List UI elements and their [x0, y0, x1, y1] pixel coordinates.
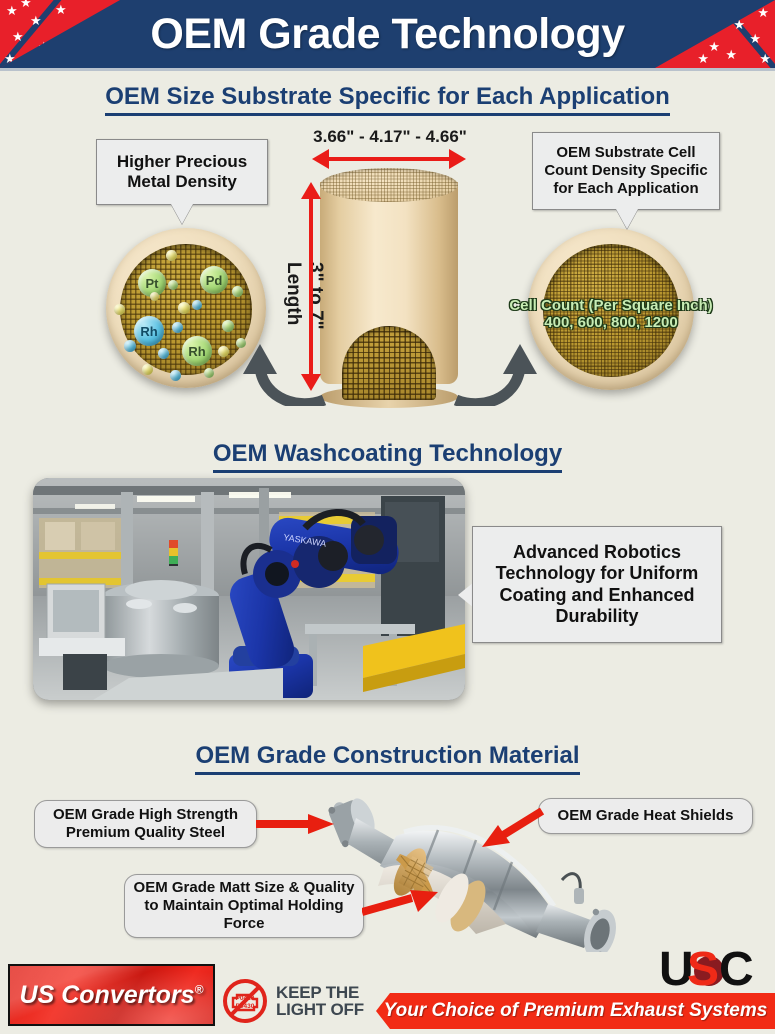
pellet-pd: Pd [200, 266, 228, 294]
curved-arrow-right [450, 330, 540, 406]
cell-count-title: Cell Count (Per Square Inch) [496, 298, 726, 315]
substrate-cylinder [320, 168, 458, 398]
logo-letter-c: C [719, 945, 754, 993]
cell-count-values: 400, 600, 800, 1200 [496, 315, 726, 332]
pellet-dot [222, 320, 234, 332]
usc-logo: U S C [657, 945, 767, 993]
pellet-dot [150, 292, 159, 301]
callout-heat-shields: OEM Grade Heat Shields [538, 798, 753, 834]
callout-text: OEM Grade High Strength Premium Quality … [43, 806, 248, 842]
keep-light-off-line2: LIGHT OFF [276, 1001, 364, 1018]
header-underline [0, 68, 775, 71]
section-title-construction: OEM Grade Construction Material [0, 742, 775, 775]
keep-light-off-text: KEEP THE LIGHT OFF [276, 984, 364, 1018]
callout-matt-size-quality: OEM Grade Matt Size & Quality to Maintai… [124, 874, 364, 938]
pellet-dot [192, 300, 202, 310]
pellet-dot [166, 250, 177, 261]
page-title: OEM Grade Technology [0, 0, 775, 68]
brand-name: US Convertors® [20, 981, 204, 1010]
curved-arrow-left [240, 330, 330, 406]
section-title-washcoating-text: OEM Washcoating Technology [213, 440, 562, 473]
pellet-dot [142, 364, 153, 375]
factory-robot-scene: YASKAWA [33, 478, 465, 700]
pellet-dot [124, 340, 136, 352]
footer-slogan-text: Your Choice of Premium Exhaust Systems [384, 1000, 768, 1022]
callout-text: OEM Grade Heat Shields [558, 807, 734, 825]
section-title-substrate: OEM Size Substrate Specific for Each App… [0, 83, 775, 116]
pellet-dot [172, 322, 183, 333]
arrow-to-heat-shields [478, 805, 544, 847]
pellet-dot [178, 302, 190, 314]
section-title-substrate-text: OEM Size Substrate Specific for Each App… [105, 83, 670, 116]
callout-text: Advanced Robotics Technology for Uniform… [481, 542, 713, 627]
diameter-arrow-right [449, 149, 466, 169]
length-arrow-up [301, 182, 321, 199]
pellet-rh-green: Rh [182, 336, 212, 366]
section-title-construction-text: OEM Grade Construction Material [195, 742, 579, 775]
cylinder-top-face [320, 168, 458, 202]
pellet-dot [158, 348, 169, 359]
cell-count-overlay: Cell Count (Per Square Inch) 400, 600, 8… [496, 298, 726, 331]
pellet-rh-blue: Rh [134, 316, 164, 346]
diameter-label: 3.66" - 4.17" - 4.66" [310, 127, 470, 147]
pellet-dot [218, 346, 229, 357]
keep-light-off-line1: KEEP THE [276, 984, 364, 1001]
infographic-page: ★ ★ ★ ★ ★ ★ ★ ★ ★ ★ ★ ★ ★ ★ ★ ★ OEM Grad… [0, 0, 775, 1034]
callout-advanced-robotics: Advanced Robotics Technology for Uniform… [472, 526, 722, 643]
pellet-dot [170, 370, 181, 381]
washcoating-photo: YASKAWA [33, 478, 465, 700]
callout-text: Higher Precious Metal Density [103, 152, 261, 192]
page-header: ★ ★ ★ ★ ★ ★ ★ ★ ★ ★ ★ ★ ★ ★ ★ ★ OEM Grad… [0, 0, 775, 68]
diameter-arrow-left [312, 149, 329, 169]
no-check-engine-light-icon: P0420 P0430 [222, 978, 268, 1024]
callout-tail-left [171, 204, 193, 224]
callout-higher-precious-metal-density: Higher Precious Metal Density [96, 139, 268, 205]
callout-text: OEM Grade Matt Size & Quality to Maintai… [133, 879, 355, 933]
pellet-dot [204, 368, 214, 378]
callout-text: OEM Substrate Cell Count Density Specifi… [540, 144, 712, 197]
pellet-dot [114, 304, 125, 315]
callout-high-strength-steel: OEM Grade High Strength Premium Quality … [34, 800, 257, 848]
callout-tail-right [616, 209, 638, 229]
registered-mark: ® [195, 982, 204, 996]
logo-letter-s: S [687, 945, 719, 993]
us-convertors-banner: US Convertors® [8, 964, 215, 1026]
arrow-to-matt [362, 890, 440, 918]
keep-light-off-badge: P0420 P0430 KEEP THE LIGHT OFF [222, 978, 364, 1024]
diameter-dimension-line [328, 157, 450, 161]
arrow-to-steel [256, 812, 336, 836]
section-title-washcoating: OEM Washcoating Technology [0, 440, 775, 473]
pellet-dot [168, 280, 178, 290]
pellet-dot [232, 286, 243, 297]
footer-slogan-banner: Your Choice of Premium Exhaust Systems [376, 993, 775, 1029]
callout-cell-count-density: OEM Substrate Cell Count Density Specifi… [532, 132, 720, 210]
